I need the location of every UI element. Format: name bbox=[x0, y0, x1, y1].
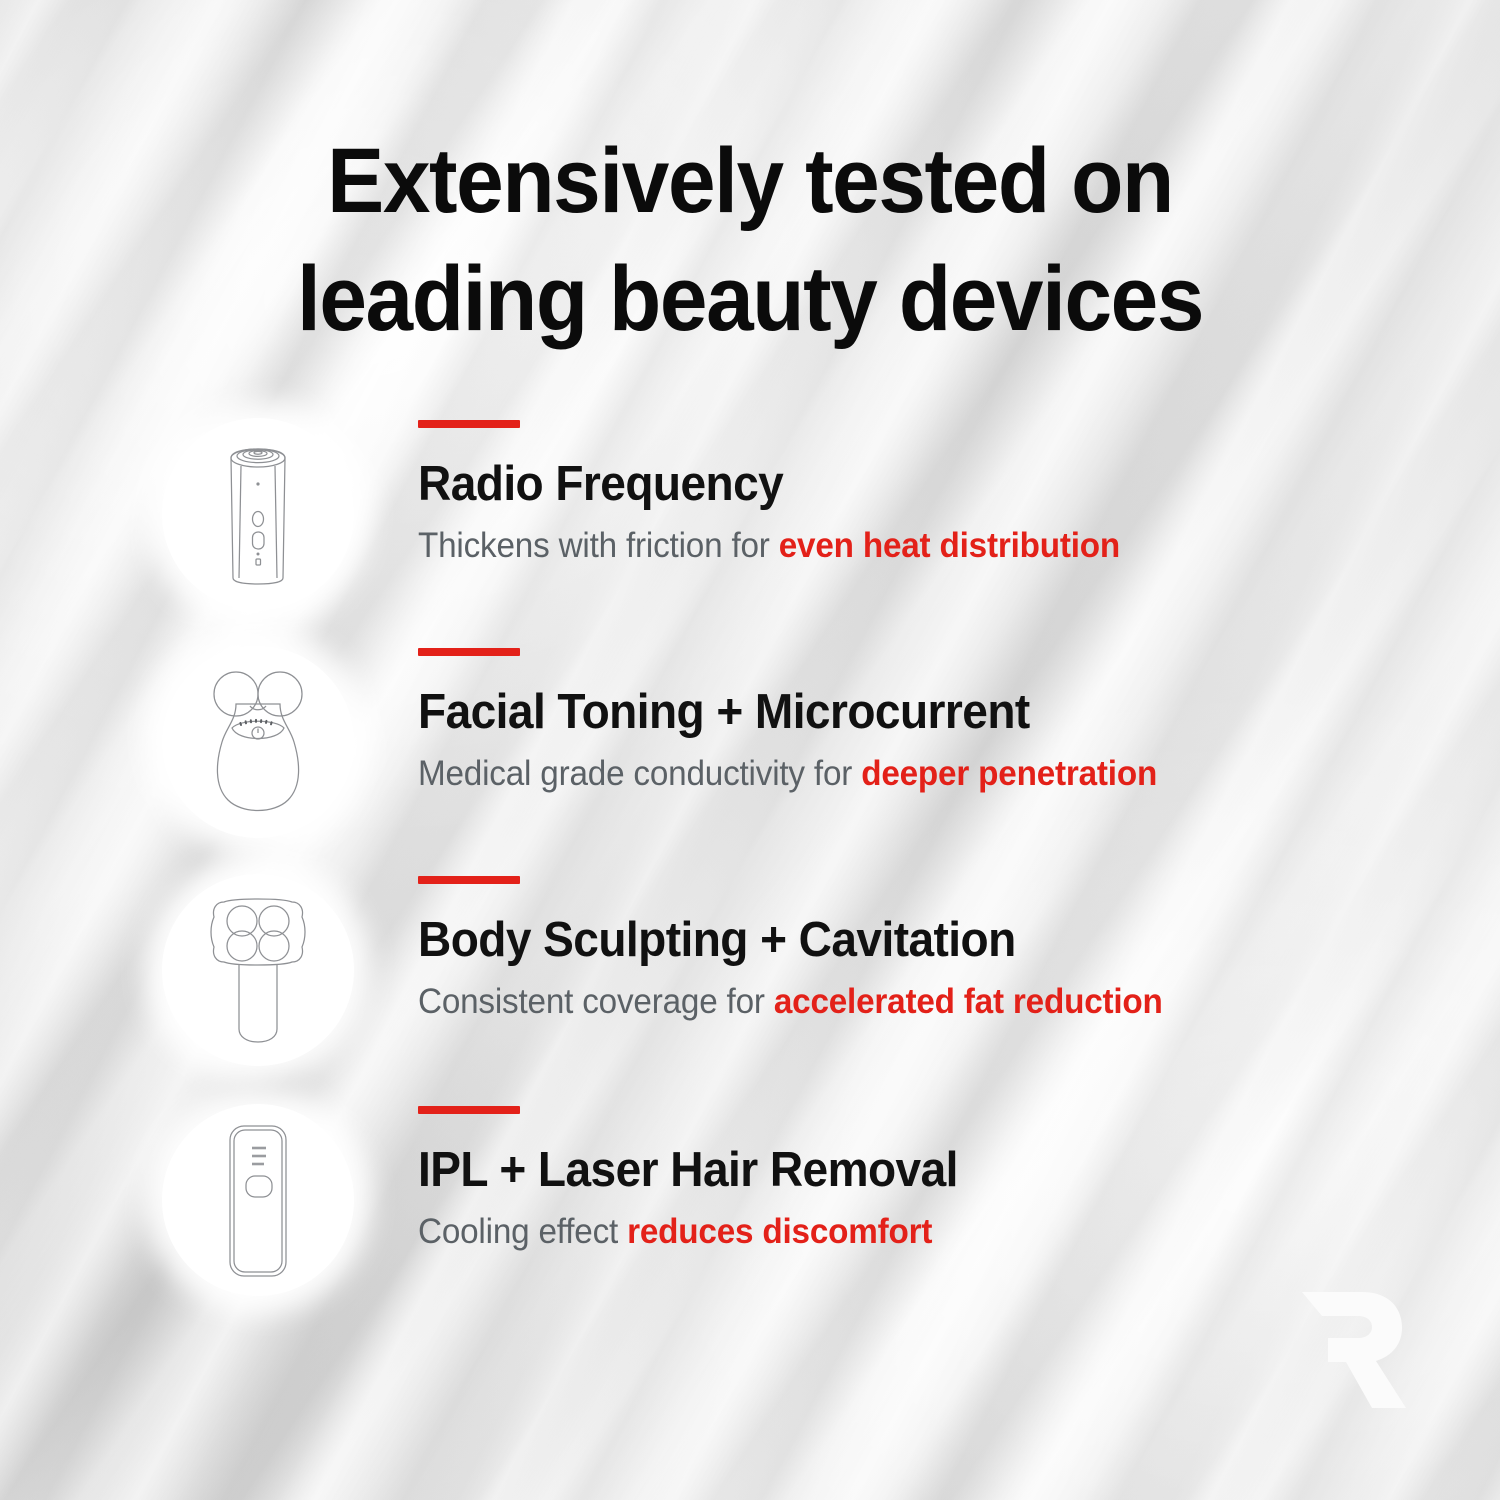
feature-subtitle-highlight: accelerated fat reduction bbox=[774, 982, 1163, 1021]
feature-subtitle-plain: Thickens with friction for bbox=[418, 526, 779, 565]
feature-title: IPL + Laser Hair Removal bbox=[418, 1142, 1367, 1198]
accent-bar bbox=[418, 1106, 520, 1114]
ipl-laser-hair-removal-device-icon bbox=[162, 1104, 354, 1296]
feature-text: Facial Toning + Microcurrent Medical gra… bbox=[418, 633, 1428, 796]
feature-row: IPL + Laser Hair Removal Cooling effect … bbox=[0, 1091, 1500, 1307]
feature-title: Radio Frequency bbox=[418, 456, 1367, 512]
accent-bar bbox=[418, 876, 520, 884]
feature-text: Radio Frequency Thickens with friction f… bbox=[418, 405, 1428, 568]
feature-text: IPL + Laser Hair Removal Cooling effect … bbox=[418, 1091, 1428, 1254]
infographic-canvas: Extensively tested on leading beauty dev… bbox=[0, 0, 1500, 1500]
page-title: Extensively tested on leading beauty dev… bbox=[53, 122, 1448, 358]
feature-title: Facial Toning + Microcurrent bbox=[418, 684, 1367, 740]
brand-r-logo-icon bbox=[1288, 1288, 1420, 1412]
feature-subtitle-highlight: reduces discomfort bbox=[627, 1212, 932, 1251]
feature-subtitle: Consistent coverage for accelerated fat … bbox=[418, 980, 1378, 1024]
feature-title: Body Sculpting + Cavitation bbox=[418, 912, 1367, 968]
icon-disc bbox=[162, 418, 354, 610]
feature-subtitle: Thickens with friction for even heat dis… bbox=[418, 524, 1378, 568]
icon-disc bbox=[162, 646, 354, 838]
feature-row: Radio Frequency Thickens with friction f… bbox=[0, 405, 1500, 621]
feature-subtitle-highlight: deeper penetration bbox=[861, 754, 1157, 793]
feature-subtitle-plain: Medical grade conductivity for bbox=[418, 754, 861, 793]
feature-subtitle: Medical grade conductivity for deeper pe… bbox=[418, 752, 1378, 796]
feature-row: Body Sculpting + Cavitation Consistent c… bbox=[0, 861, 1500, 1077]
feature-text: Body Sculpting + Cavitation Consistent c… bbox=[418, 861, 1428, 1024]
headline-line-1: Extensively tested on bbox=[53, 122, 1448, 240]
icon-disc bbox=[162, 1104, 354, 1296]
feature-subtitle-plain: Consistent coverage for bbox=[418, 982, 774, 1021]
facial-toning-microcurrent-device-icon bbox=[162, 646, 354, 838]
icon-disc bbox=[162, 874, 354, 1066]
feature-subtitle: Cooling effect reduces discomfort bbox=[418, 1210, 1378, 1254]
feature-row: Facial Toning + Microcurrent Medical gra… bbox=[0, 633, 1500, 849]
brand-r-logo bbox=[1288, 1288, 1420, 1412]
accent-bar bbox=[418, 420, 520, 428]
body-sculpting-cavitation-device-icon bbox=[162, 874, 354, 1066]
feature-subtitle-plain: Cooling effect bbox=[418, 1212, 627, 1251]
radio-frequency-wand-icon bbox=[162, 418, 354, 610]
headline-line-2: leading beauty devices bbox=[53, 240, 1448, 358]
feature-subtitle-highlight: even heat distribution bbox=[779, 526, 1120, 565]
accent-bar bbox=[418, 648, 520, 656]
